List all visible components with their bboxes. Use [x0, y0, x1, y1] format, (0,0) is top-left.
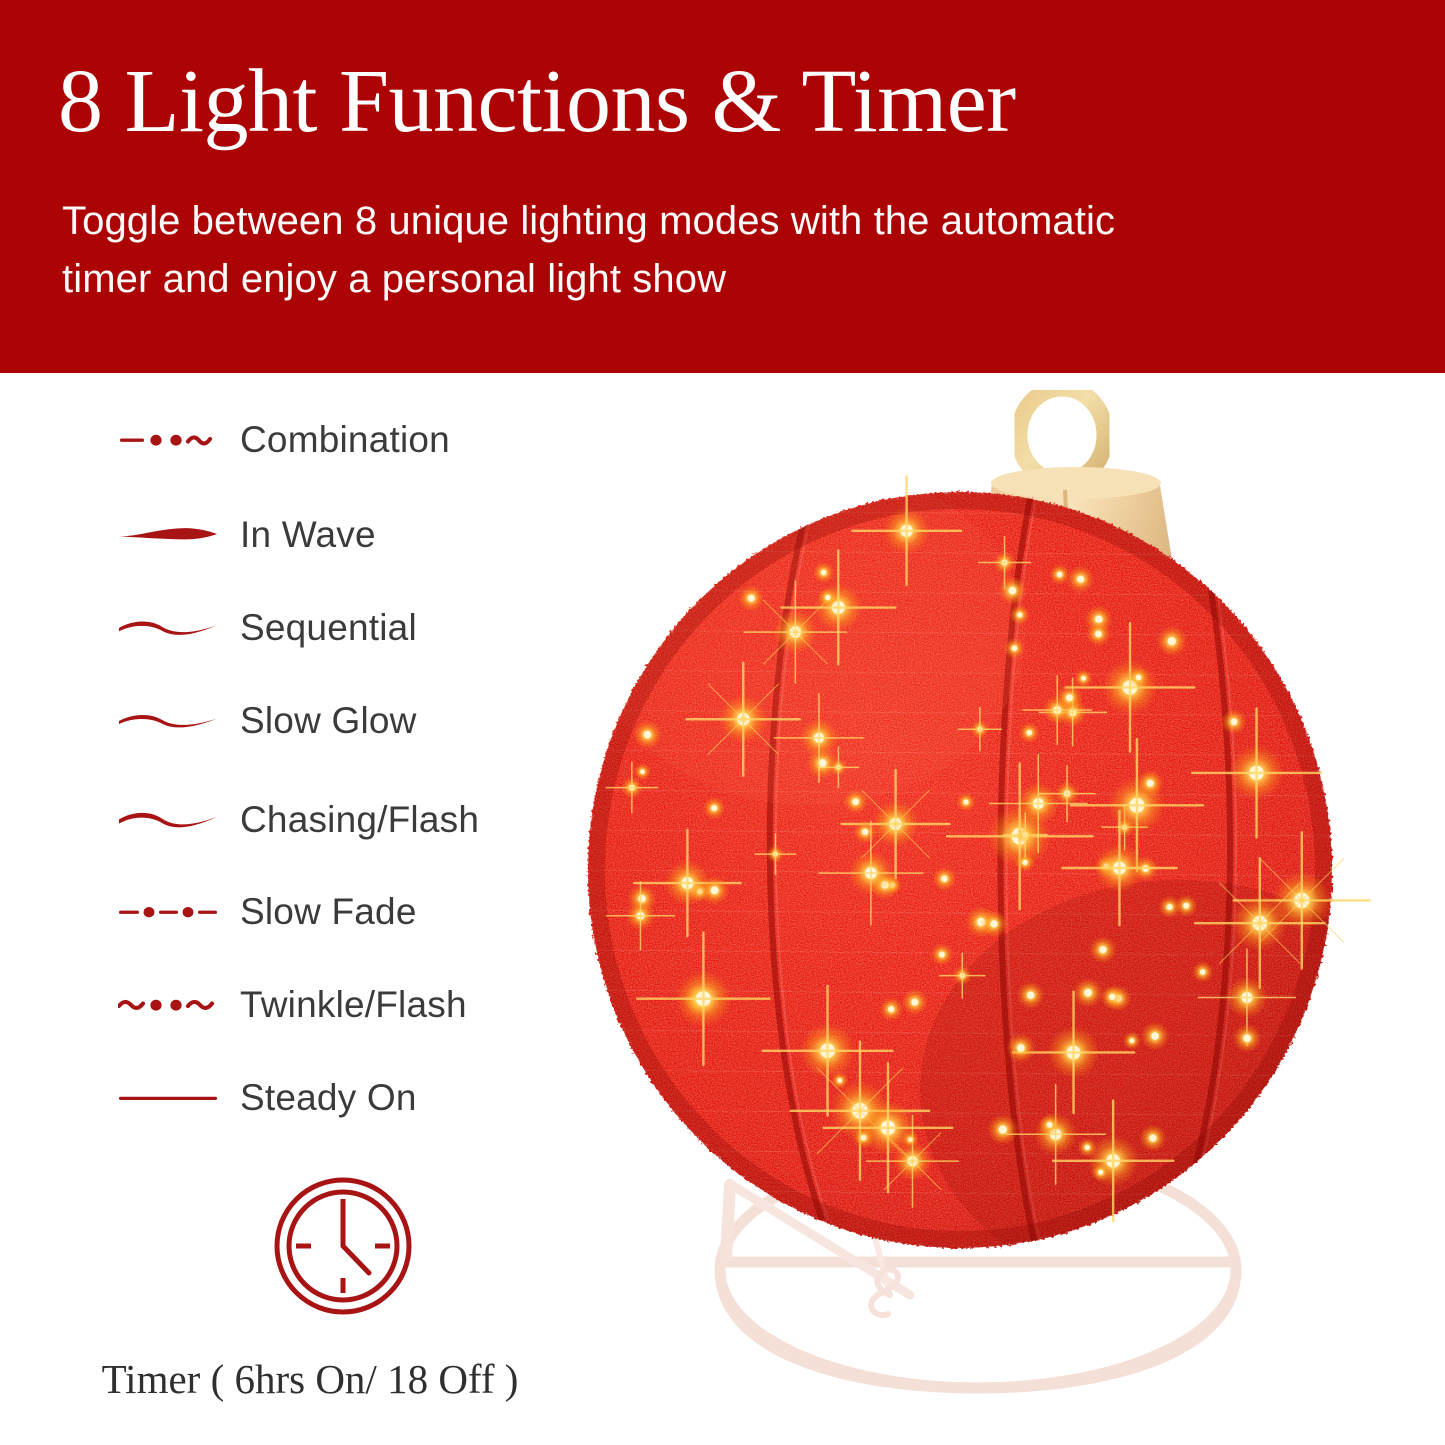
tilde-dot-dot-tilde-icon: [118, 985, 218, 1025]
list-item-label: Chasing/Flash: [240, 799, 479, 841]
list-item: Slow Fade: [118, 882, 417, 942]
solid-line-icon: [118, 1078, 218, 1118]
list-item-label: Combination: [240, 419, 450, 461]
wire-stand-front: [720, 1270, 1236, 1388]
page-subtitle: Toggle between 8 unique lighting modes w…: [62, 193, 1212, 308]
list-item-label: Slow Glow: [240, 700, 417, 742]
product-feature-graphic: 8 Light Functions & Timer Toggle between…: [0, 0, 1445, 1445]
list-item-label: Steady On: [240, 1077, 417, 1119]
double-lens-line-icon: [118, 701, 218, 741]
header-band: 8 Light Functions & Timer Toggle between…: [0, 0, 1445, 373]
list-item: Chasing/Flash: [118, 790, 479, 850]
list-item: Slow Glow: [118, 691, 417, 751]
list-item: Steady On: [118, 1068, 417, 1128]
single-lens-line-icon: [118, 515, 218, 555]
ornament-ball: [580, 465, 1440, 1300]
list-item-label: Slow Fade: [240, 891, 417, 933]
dash-dot-dash-dot-dash-icon: [118, 892, 218, 932]
list-item: Sequential: [118, 598, 417, 658]
list-item-label: Twinkle/Flash: [240, 984, 467, 1026]
double-lens-line-icon: [118, 800, 218, 840]
list-item: Combination: [118, 410, 450, 470]
double-lens-line-icon: [118, 608, 218, 648]
clock-icon: [273, 1176, 413, 1316]
list-item: Twinkle/Flash: [118, 975, 467, 1035]
light-functions-legend: Combination In Wave Sequential Slow Glow: [0, 373, 620, 1153]
page-title: 8 Light Functions & Timer: [58, 57, 1016, 147]
timer-caption: Timer ( 6hrs On/ 18 Off ): [0, 1355, 620, 1403]
dash-dot-dot-tilde-icon: [118, 420, 218, 460]
product-photo-ornament: [560, 390, 1445, 1445]
list-item-label: Sequential: [240, 607, 417, 649]
list-item: In Wave: [118, 505, 376, 565]
list-item-label: In Wave: [240, 514, 376, 556]
